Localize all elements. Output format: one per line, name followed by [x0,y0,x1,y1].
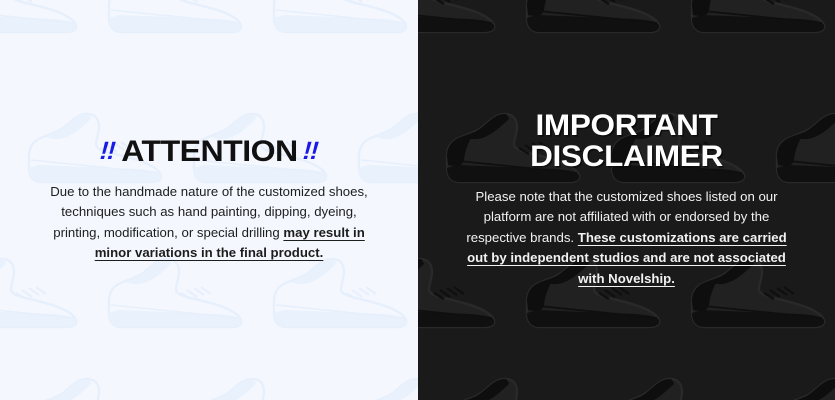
attention-heading: !! ATTENTION !! [46,137,372,167]
disclaimer-panel: IMPORTANT DISCLAIMER Please note that th… [418,0,835,400]
attention-heading-text: ATTENTION [121,137,297,167]
disclaimer-body: Please note that the customized shoes li… [460,187,793,289]
double-exclamation-left-icon: !! [99,139,115,164]
attention-body: Due to the handmade nature of the custom… [46,182,372,264]
disclaimer-heading-line2: DISCLAIMER [452,142,802,173]
double-exclamation-right-icon: !! [303,139,319,164]
disclaimer-heading-line1: IMPORTANT [452,111,802,142]
disclaimer-banner: !! ATTENTION !! Due to the handmade natu… [0,0,835,400]
attention-panel: !! ATTENTION !! Due to the handmade natu… [0,0,418,400]
disclaimer-content: IMPORTANT DISCLAIMER Please note that th… [418,111,835,289]
attention-content: !! ATTENTION !! Due to the handmade natu… [0,137,418,264]
disclaimer-heading: IMPORTANT DISCLAIMER [452,111,802,173]
